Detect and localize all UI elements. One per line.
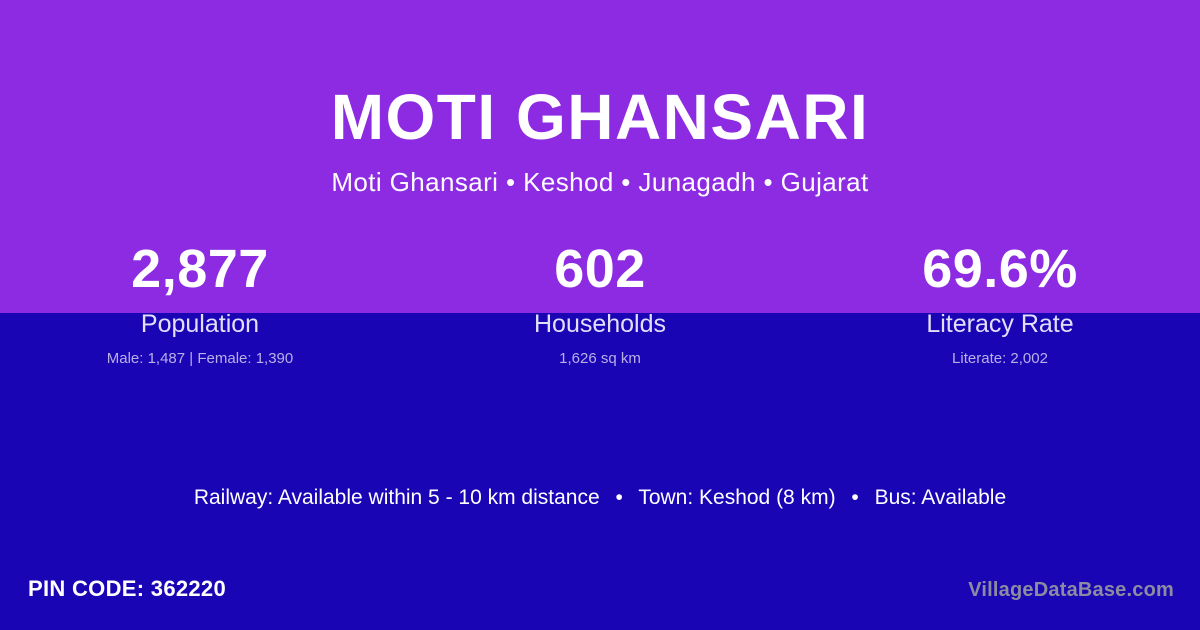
facility-railway: Railway: Available within 5 - 10 km dist… bbox=[194, 486, 600, 509]
facility-separator-1: • bbox=[605, 486, 632, 510]
stat-value-households: 602 bbox=[400, 242, 800, 296]
facilities-line: Railway: Available within 5 - 10 km dist… bbox=[0, 486, 1200, 510]
stat-literacy-rate: 69.6% Literacy Rate Literate: 2,002 bbox=[800, 242, 1200, 367]
site-watermark: VillageDataBase.com bbox=[968, 579, 1174, 602]
page-title: MOTI GHANSARI bbox=[0, 0, 1200, 151]
card-header: MOTI GHANSARI Moti Ghansari • Keshod • J… bbox=[0, 0, 1200, 198]
facility-bus: Bus: Available bbox=[875, 486, 1007, 509]
stat-label-households: Households bbox=[400, 311, 800, 339]
stat-value-literacy-rate: 69.6% bbox=[800, 242, 1200, 296]
stat-label-population: Population bbox=[0, 311, 400, 339]
village-info-card: MOTI GHANSARI Moti Ghansari • Keshod • J… bbox=[0, 0, 1200, 630]
card-footer: PIN CODE: 362220 VillageDataBase.com bbox=[0, 564, 1200, 630]
facility-separator-2: • bbox=[841, 486, 868, 510]
stat-sub-population: Male: 1,487 | Female: 1,390 bbox=[0, 351, 400, 368]
stats-row: 2,877 Population Male: 1,487 | Female: 1… bbox=[0, 242, 1200, 367]
pin-code: PIN CODE: 362220 bbox=[28, 576, 226, 602]
stat-households: 602 Households 1,626 sq km bbox=[400, 242, 800, 367]
breadcrumb: Moti Ghansari • Keshod • Junagadh • Guja… bbox=[0, 151, 1200, 198]
stat-label-literacy-rate: Literacy Rate bbox=[800, 311, 1200, 339]
stat-sub-literacy-rate: Literate: 2,002 bbox=[800, 351, 1200, 368]
stat-value-population: 2,877 bbox=[0, 242, 400, 296]
stat-population: 2,877 Population Male: 1,487 | Female: 1… bbox=[0, 242, 400, 367]
facility-town: Town: Keshod (8 km) bbox=[638, 486, 835, 509]
stat-sub-households: 1,626 sq km bbox=[400, 351, 800, 368]
